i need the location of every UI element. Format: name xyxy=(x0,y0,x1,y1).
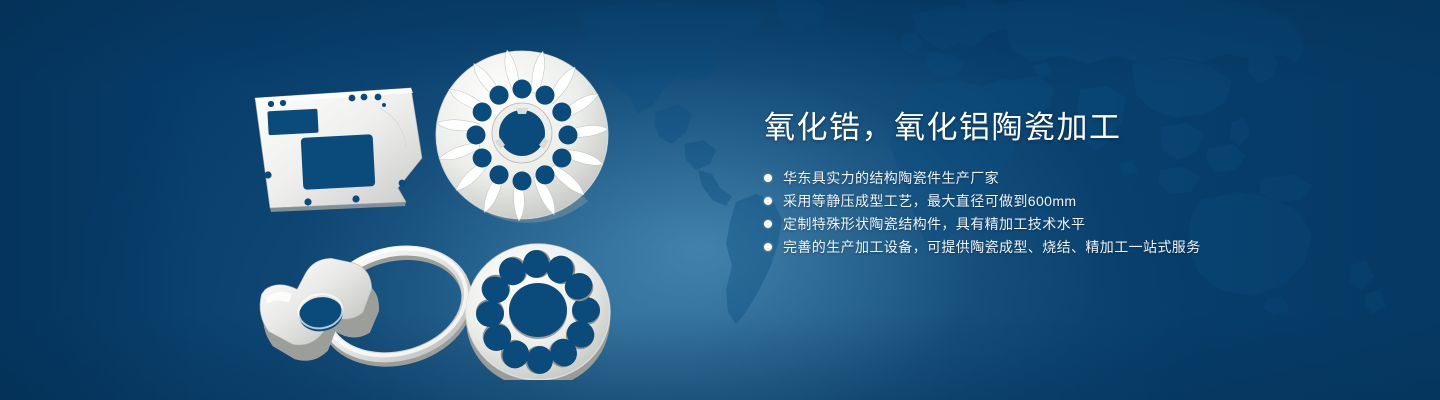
bullet-dot-icon xyxy=(764,243,772,251)
hero-banner: 氧化锆，氧化铝陶瓷加工 华东具实力的结构陶瓷件生产厂家 采用等静压成型工艺，最大… xyxy=(0,0,1440,400)
list-item: 华东具实力的结构陶瓷件生产厂家 xyxy=(764,170,1364,186)
list-item: 采用等静压成型工艺，最大直径可做到600mm xyxy=(764,193,1364,209)
list-item-label: 定制特殊形状陶瓷结构件，具有精加工技术水平 xyxy=(783,216,1085,232)
list-item-label: 华东具实力的结构陶瓷件生产厂家 xyxy=(783,170,999,186)
list-item-label: 采用等静压成型工艺，最大直径可做到600mm xyxy=(783,193,1076,209)
bullet-dot-icon xyxy=(764,197,772,205)
ceramic-perforated-disc xyxy=(466,244,610,380)
ceramic-products-group xyxy=(230,40,730,380)
page-title: 氧化锆，氧化铝陶瓷加工 xyxy=(764,108,1364,148)
bullet-dot-icon xyxy=(764,220,772,228)
feature-list: 华东具实力的结构陶瓷件生产厂家 采用等静压成型工艺，最大直径可做到600mm 定… xyxy=(764,170,1364,255)
list-item-label: 完善的生产加工设备，可提供陶瓷成型、烧结、精加工一站式服务 xyxy=(783,239,1201,255)
list-item: 完善的生产加工设备，可提供陶瓷成型、烧结、精加工一站式服务 xyxy=(764,239,1364,255)
ceramic-machined-plate xyxy=(255,88,422,212)
bullet-dot-icon xyxy=(764,174,772,182)
ceramic-impeller-disc xyxy=(436,49,608,223)
banner-copy: 氧化锆，氧化铝陶瓷加工 华东具实力的结构陶瓷件生产厂家 采用等静压成型工艺，最大… xyxy=(764,108,1364,262)
list-item: 定制特殊形状陶瓷结构件，具有精加工技术水平 xyxy=(764,216,1364,232)
